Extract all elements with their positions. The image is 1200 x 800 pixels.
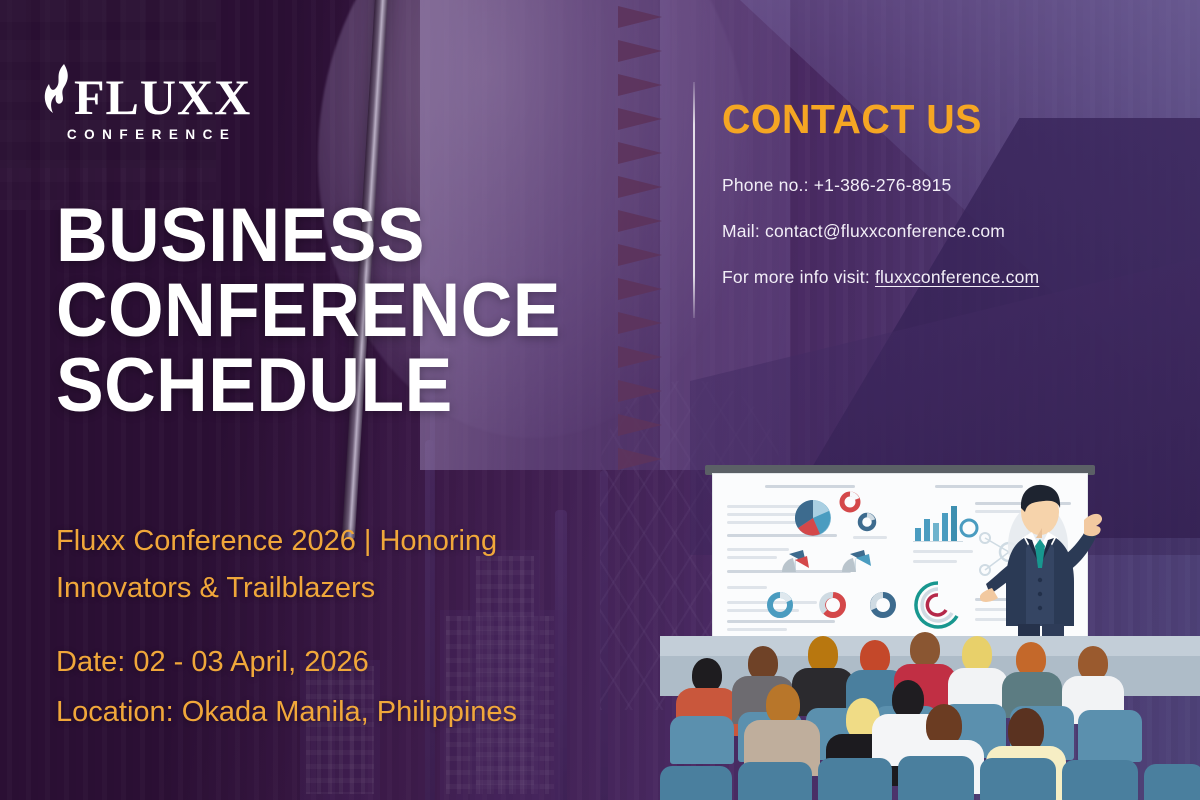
headline-line-1: BUSINESS	[56, 198, 620, 273]
business-presentation-illustration	[660, 440, 1200, 800]
donut-chart	[765, 590, 795, 620]
event-details: Date: 02 - 03 April, 2026 Location: Okad…	[56, 638, 676, 738]
subtitle: Fluxx Conference 2026 | Honoring Innovat…	[56, 518, 596, 612]
vertical-divider	[693, 82, 695, 318]
subtitle-line-1: Fluxx Conference 2026 | Honoring	[56, 518, 596, 565]
headline-line-2: CONFERENCE	[56, 273, 620, 348]
pie-chart	[793, 498, 833, 538]
logo-wordmark: FLUXX	[74, 74, 251, 120]
headline-line-3: SCHEDULE	[56, 348, 620, 423]
logo-tagline: CONFERENCE	[67, 127, 237, 142]
contact-website-prefix: For more info visit:	[722, 267, 875, 287]
event-date: Date: 02 - 03 April, 2026	[56, 638, 676, 688]
contact-heading: CONTACT US	[722, 96, 1135, 143]
brand-logo[interactable]: FLUXX CONFERENCE	[40, 62, 251, 142]
circle-accent-icon	[957, 516, 981, 540]
contact-website-line: For more info visit: fluxxconference.com	[722, 267, 1152, 288]
page-title: BUSINESS CONFERENCE SCHEDULE	[56, 198, 620, 424]
donut-chart	[839, 491, 861, 513]
conference-schedule-poster: FLUXX CONFERENCE BUSINESS CONFERENCE SCH…	[0, 0, 1200, 800]
contact-email[interactable]: Mail: contact@fluxxconference.com	[722, 221, 1152, 242]
donut-chart	[818, 590, 848, 620]
donut-chart	[868, 590, 898, 620]
event-location: Location: Okada Manila, Philippines	[56, 688, 676, 738]
pie-chart	[836, 546, 882, 576]
concentric-arc-chart	[909, 576, 967, 634]
subtitle-line-2: Innovators & Trailblazers	[56, 565, 596, 612]
contact-website-link[interactable]: fluxxconference.com	[875, 267, 1039, 287]
contact-section: CONTACT US Phone no.: +1-386-276-8915 Ma…	[722, 96, 1152, 313]
flag-serration	[618, 0, 688, 470]
flame-icon	[40, 62, 80, 120]
pie-chart	[773, 546, 819, 576]
contact-phone[interactable]: Phone no.: +1-386-276-8915	[722, 175, 1152, 196]
donut-chart	[857, 512, 877, 532]
